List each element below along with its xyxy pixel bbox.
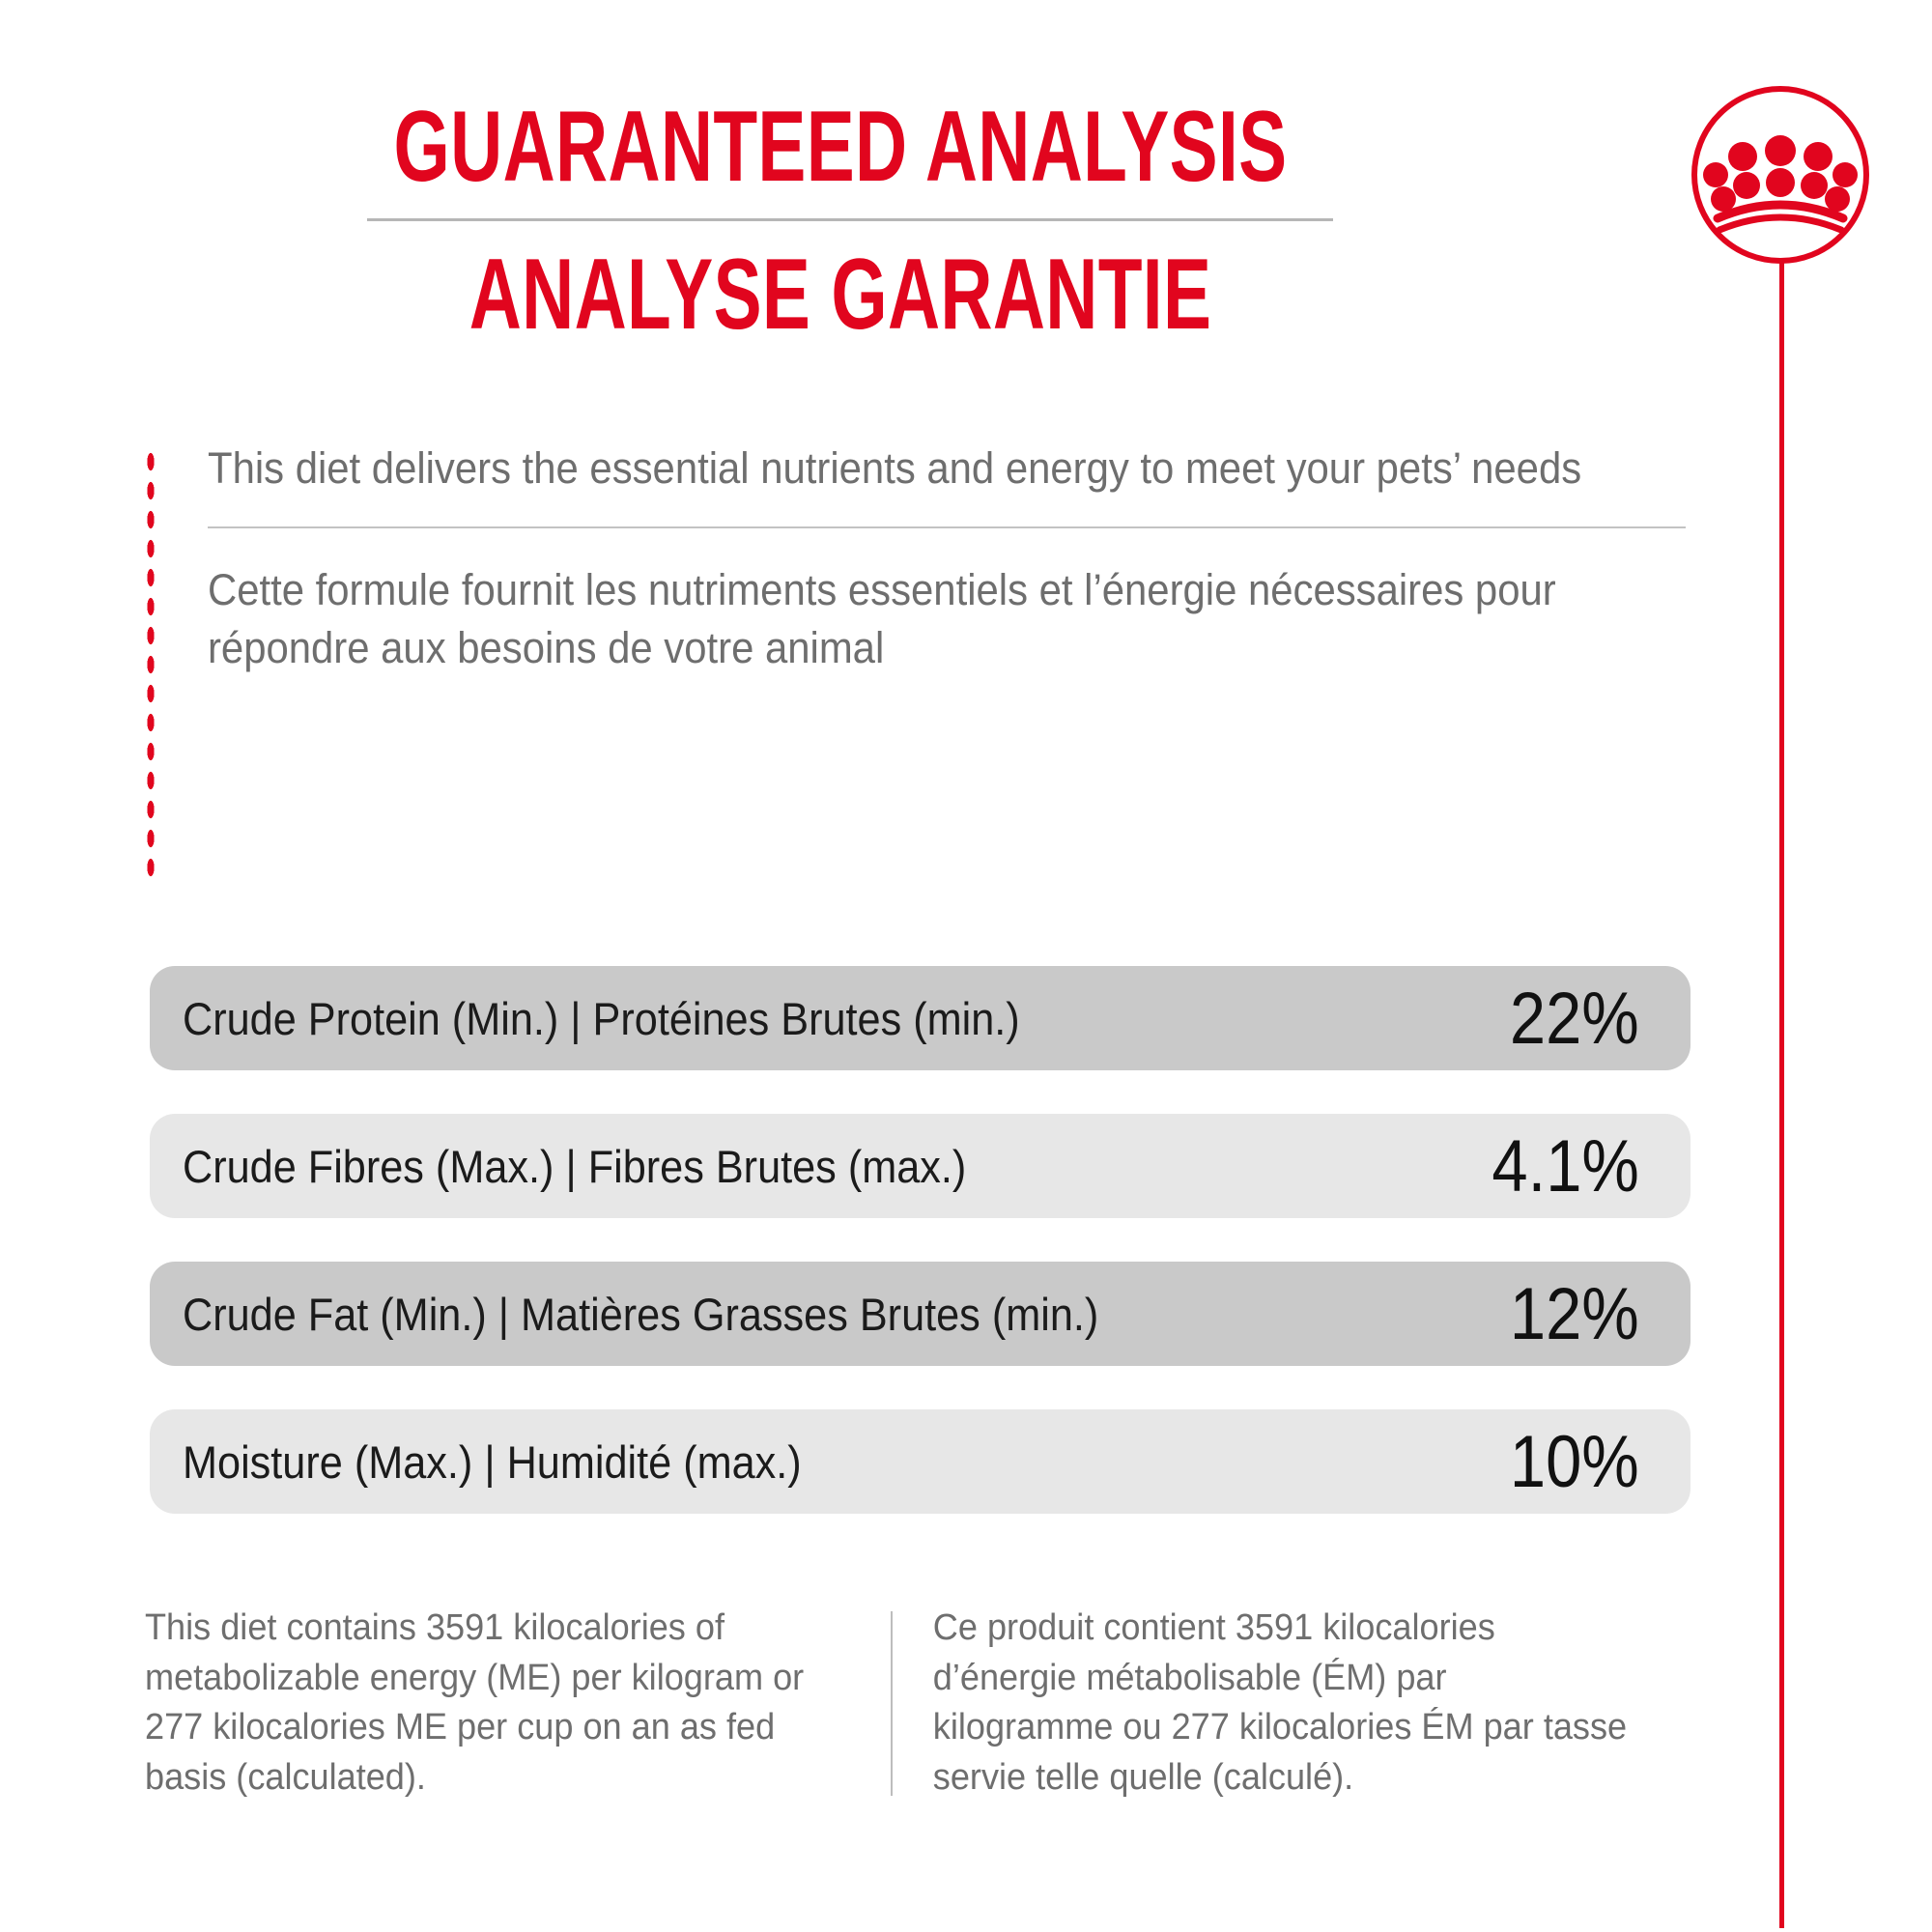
nutrient-row: Crude Fibres (Max.) | Fibres Brutes (max… [150, 1114, 1690, 1218]
nutrient-row: Crude Protein (Min.) | Protéines Brutes … [150, 966, 1690, 1070]
intro-divider [208, 526, 1686, 528]
nutrient-row: Moisture (Max.) | Humidité (max.) 10% [150, 1409, 1690, 1514]
nutrient-row: Crude Fat (Min.) | Matières Grasses Brut… [150, 1262, 1690, 1366]
brand-logo [1689, 83, 1872, 267]
nutrient-label: Crude Fibres (Max.) | Fibres Brutes (max… [183, 1140, 966, 1193]
page-title-fr: ANALYSE GARANTIE [236, 239, 1446, 345]
nutrient-label: Crude Fat (Min.) | Matières Grasses Brut… [183, 1288, 1098, 1341]
intro-text-en: This diet delivers the essential nutrien… [208, 440, 1587, 497]
nutrient-value: 12% [1510, 1272, 1658, 1356]
footnote-en: This diet contains 3591 kilocalories of … [145, 1604, 853, 1804]
page-title-en: GUARANTEED ANALYSIS [236, 97, 1446, 213]
royal-canin-crown-icon [1689, 83, 1872, 267]
intro-text-fr: Cette formule fournit les nutriments ess… [208, 561, 1587, 677]
footnote-fr: Ce produit contient 3591 kilocalories d’… [893, 1604, 1631, 1804]
dotted-rail-decoration [145, 447, 156, 882]
title-divider [367, 218, 1333, 221]
nutrient-value: 22% [1510, 977, 1658, 1061]
nutrient-value: 10% [1510, 1420, 1658, 1504]
nutrient-value: 4.1% [1492, 1124, 1658, 1208]
nutrient-label: Moisture (Max.) | Humidité (max.) [183, 1435, 802, 1489]
intro-block: This diet delivers the essential nutrien… [145, 440, 1690, 677]
nutrient-table: Crude Protein (Min.) | Protéines Brutes … [150, 966, 1690, 1557]
footnotes-block: This diet contains 3591 kilocalories of … [145, 1604, 1690, 1804]
page-title-block: GUARANTEED ANALYSIS ANALYSE GARANTIE [0, 97, 1681, 345]
logo-stem-line [1779, 263, 1784, 1928]
nutrient-label: Crude Protein (Min.) | Protéines Brutes … [183, 992, 1020, 1045]
